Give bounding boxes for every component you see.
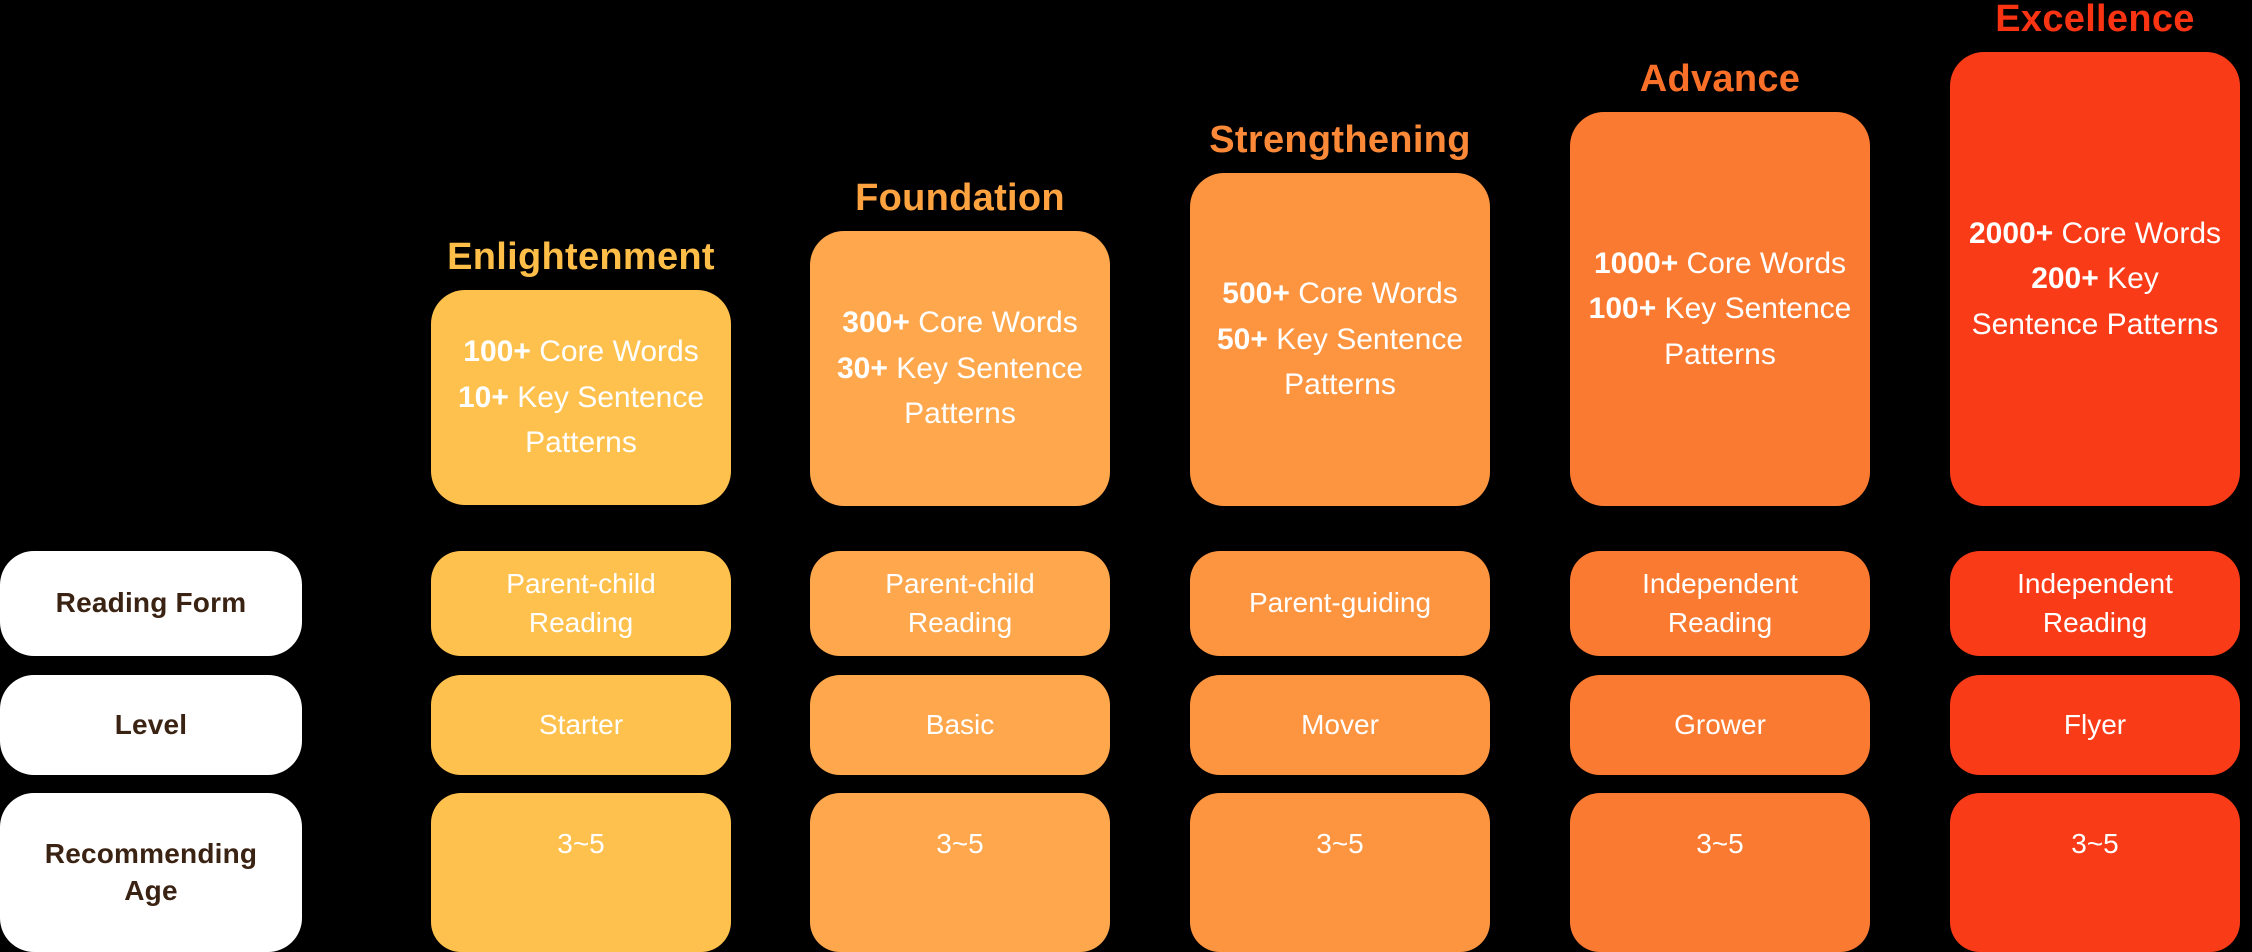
cell-reading-form-text-foundation: Parent-childReading xyxy=(885,565,1034,641)
cell-level-text-enlightenment: Starter xyxy=(539,706,623,744)
summary-card-foundation[interactable]: 300+ Core Words 30+ Key Sentence Pattern… xyxy=(810,231,1110,506)
cell-level-enlightenment[interactable]: Starter xyxy=(431,675,731,775)
cell-level-foundation[interactable]: Basic xyxy=(810,675,1110,775)
row-label-level: Level xyxy=(0,675,302,775)
row-label-reading-form: Reading Form xyxy=(0,551,302,656)
column-title-enlightenment: Enlightenment xyxy=(431,236,731,279)
row-label-recommending-age: Recommending Age xyxy=(0,793,302,952)
cell-level-text-strengthening: Mover xyxy=(1301,706,1379,744)
row-label-recommending-age-text: Recommending Age xyxy=(33,836,269,910)
cell-reading-form-advance[interactable]: IndependentReading xyxy=(1570,551,1870,656)
summary-card-enlightenment[interactable]: 100+ Core Words 10+ Key Sentence Pattern… xyxy=(431,290,731,505)
cell-level-text-advance: Grower xyxy=(1674,706,1766,744)
cell-reading-form-text-advance: IndependentReading xyxy=(1642,565,1798,641)
cell-reading-form-text-enlightenment: Parent-childReading xyxy=(506,565,655,641)
cell-level-advance[interactable]: Grower xyxy=(1570,675,1870,775)
cell-recommending-age-text-excellence: 3~5 xyxy=(2071,825,2119,863)
column-title-advance: Advance xyxy=(1570,58,1870,101)
row-label-age-line1: Recommending xyxy=(45,838,257,869)
row-label-age-line2: Age xyxy=(124,875,178,906)
cell-reading-form-excellence[interactable]: IndependentReading xyxy=(1950,551,2240,656)
level-column-foundation: Foundation300+ Core Words 30+ Key Senten… xyxy=(810,0,1110,952)
row-label-column: Reading Form Level Recommending Age xyxy=(0,0,302,952)
level-column-strengthening: Strengthening500+ Core Words 50+ Key Sen… xyxy=(1190,0,1490,952)
cell-reading-form-text-excellence: IndependentReading xyxy=(2017,565,2173,641)
summary-card-strengthening[interactable]: 500+ Core Words 50+ Key Sentence Pattern… xyxy=(1190,173,1490,506)
cell-recommending-age-advance[interactable]: 3~5 xyxy=(1570,793,1870,952)
level-column-excellence: Excellence2000+ Core Words 200+ Key Sent… xyxy=(1950,0,2240,952)
cell-reading-form-foundation[interactable]: Parent-childReading xyxy=(810,551,1110,656)
cell-level-text-foundation: Basic xyxy=(926,706,994,744)
column-title-excellence: Excellence xyxy=(1950,0,2240,41)
level-column-advance: Advance1000+ Core Words 100+ Key Sentenc… xyxy=(1570,0,1870,952)
cell-recommending-age-text-strengthening: 3~5 xyxy=(1316,825,1364,863)
cell-recommending-age-excellence[interactable]: 3~5 xyxy=(1950,793,2240,952)
cell-recommending-age-text-foundation: 3~5 xyxy=(936,825,984,863)
row-label-reading-form-text: Reading Form xyxy=(44,585,259,622)
level-column-enlightenment: Enlightenment100+ Core Words 10+ Key Sen… xyxy=(431,0,731,952)
cell-recommending-age-enlightenment[interactable]: 3~5 xyxy=(431,793,731,952)
summary-text-foundation: 300+ Core Words 30+ Key Sentence Pattern… xyxy=(828,300,1092,437)
column-title-strengthening: Strengthening xyxy=(1190,119,1490,162)
summary-text-enlightenment: 100+ Core Words 10+ Key Sentence Pattern… xyxy=(449,329,713,466)
cell-recommending-age-foundation[interactable]: 3~5 xyxy=(810,793,1110,952)
cell-recommending-age-text-enlightenment: 3~5 xyxy=(557,825,605,863)
column-title-foundation: Foundation xyxy=(810,177,1110,220)
progression-chart: Reading Form Level Recommending Age Enli… xyxy=(0,0,2252,952)
summary-text-advance: 1000+ Core Words 100+ Key Sentence Patte… xyxy=(1588,241,1852,378)
cell-level-strengthening[interactable]: Mover xyxy=(1190,675,1490,775)
cell-reading-form-strengthening[interactable]: Parent-guiding xyxy=(1190,551,1490,656)
cell-level-text-excellence: Flyer xyxy=(2064,706,2126,744)
cell-recommending-age-text-advance: 3~5 xyxy=(1696,825,1744,863)
cell-level-excellence[interactable]: Flyer xyxy=(1950,675,2240,775)
summary-card-advance[interactable]: 1000+ Core Words 100+ Key Sentence Patte… xyxy=(1570,112,1870,506)
row-label-level-text: Level xyxy=(103,707,200,744)
cell-recommending-age-strengthening[interactable]: 3~5 xyxy=(1190,793,1490,952)
cell-reading-form-text-strengthening: Parent-guiding xyxy=(1249,584,1431,622)
cell-reading-form-enlightenment[interactable]: Parent-childReading xyxy=(431,551,731,656)
summary-card-excellence[interactable]: 2000+ Core Words 200+ Key Sentence Patte… xyxy=(1950,52,2240,506)
summary-text-excellence: 2000+ Core Words 200+ Key Sentence Patte… xyxy=(1968,211,2222,348)
summary-text-strengthening: 500+ Core Words 50+ Key Sentence Pattern… xyxy=(1208,271,1472,408)
